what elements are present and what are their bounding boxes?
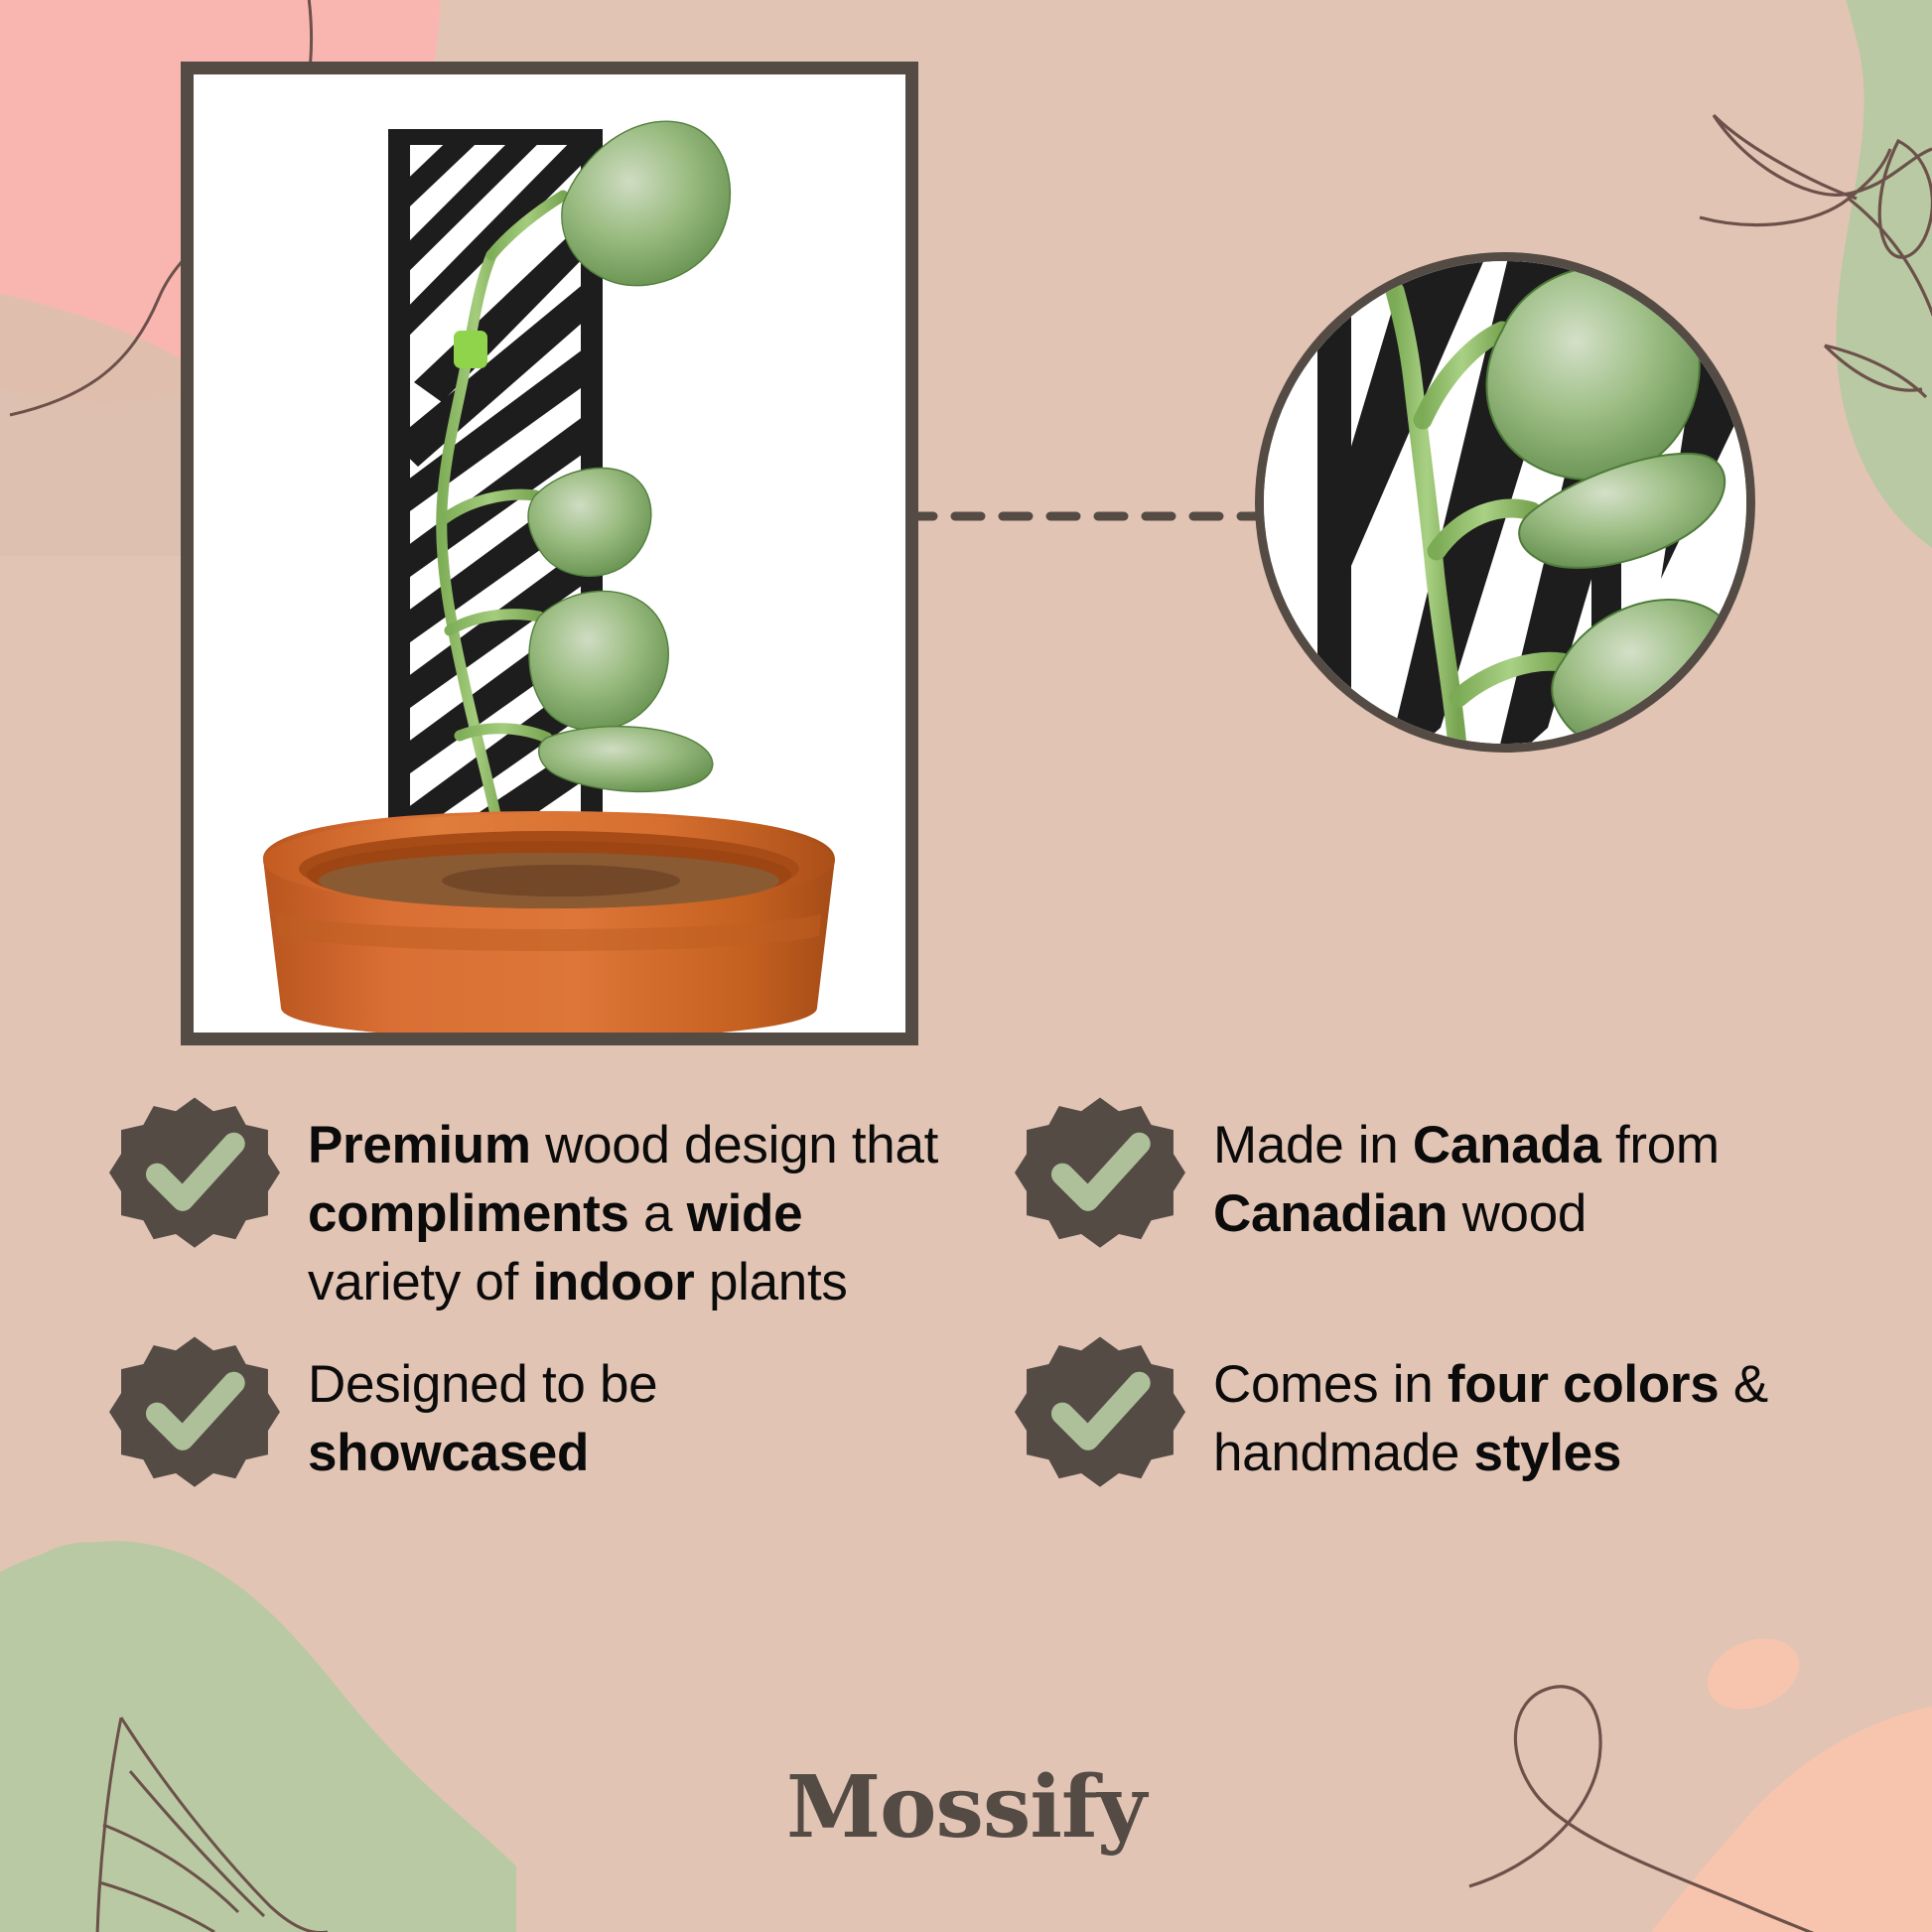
terracotta-pot <box>263 811 835 1033</box>
feature-text: Premium wood design that compliments a w… <box>308 1092 951 1317</box>
feature-item: Made in Canada from Canadian wood <box>1015 1092 1857 1317</box>
check-badge-icon <box>1015 1333 1185 1504</box>
blob-green-bottom-left <box>0 1541 516 1932</box>
feature-plain: Made in <box>1213 1116 1413 1174</box>
feature-plain: variety of <box>308 1253 532 1311</box>
product-photo-frame <box>181 62 918 1045</box>
feature-emphasis: wide <box>687 1184 803 1243</box>
check-badge-icon <box>1015 1094 1185 1265</box>
product-photo <box>194 74 905 1033</box>
feature-emphasis: Premium <box>308 1116 531 1174</box>
dashed-connector-line <box>905 501 1283 531</box>
feature-plain: Comes in <box>1213 1355 1448 1414</box>
feature-emphasis: showcased <box>308 1424 589 1482</box>
feature-emphasis: Canada <box>1413 1116 1601 1174</box>
feature-item: Designed to be showcased <box>109 1331 951 1504</box>
feature-item: Comes in four colors & handmade styles <box>1015 1331 1857 1504</box>
blob-peach-pill <box>1697 1625 1810 1722</box>
feature-plain: wood <box>1448 1184 1587 1243</box>
feature-item: Premium wood design that compliments a w… <box>109 1092 951 1317</box>
feature-plain: Designed to be <box>308 1355 657 1414</box>
feature-emphasis: styles <box>1474 1424 1621 1482</box>
feature-text: Comes in four colors & handmade styles <box>1213 1331 1857 1488</box>
feature-emphasis: Canadian <box>1213 1184 1448 1243</box>
feature-emphasis: indoor <box>532 1253 694 1311</box>
check-badge-icon <box>109 1333 280 1504</box>
feature-list: Premium wood design that compliments a w… <box>109 1092 1857 1504</box>
check-badge-icon <box>109 1094 280 1265</box>
detail-zoom-circle <box>1264 261 1746 744</box>
feature-plain: wood design that <box>531 1116 938 1174</box>
feature-plain: plants <box>695 1253 848 1311</box>
brand-logo: Mossify <box>0 1757 1932 1858</box>
blob-green-top-right <box>1824 0 1932 596</box>
blob-green-pill <box>1 1528 143 1641</box>
feature-text: Designed to be showcased <box>308 1331 951 1488</box>
infographic-canvas: Premium wood design that compliments a w… <box>0 0 1932 1932</box>
feature-emphasis: compliments <box>308 1184 629 1243</box>
feature-plain: from <box>1601 1116 1720 1174</box>
trellis-plant-illustration <box>194 74 905 1033</box>
feature-plain: a <box>629 1184 687 1243</box>
feature-text: Made in Canada from Canadian wood <box>1213 1092 1857 1249</box>
detail-zoom-illustration <box>1264 261 1746 744</box>
feature-emphasis: four colors <box>1448 1355 1720 1414</box>
